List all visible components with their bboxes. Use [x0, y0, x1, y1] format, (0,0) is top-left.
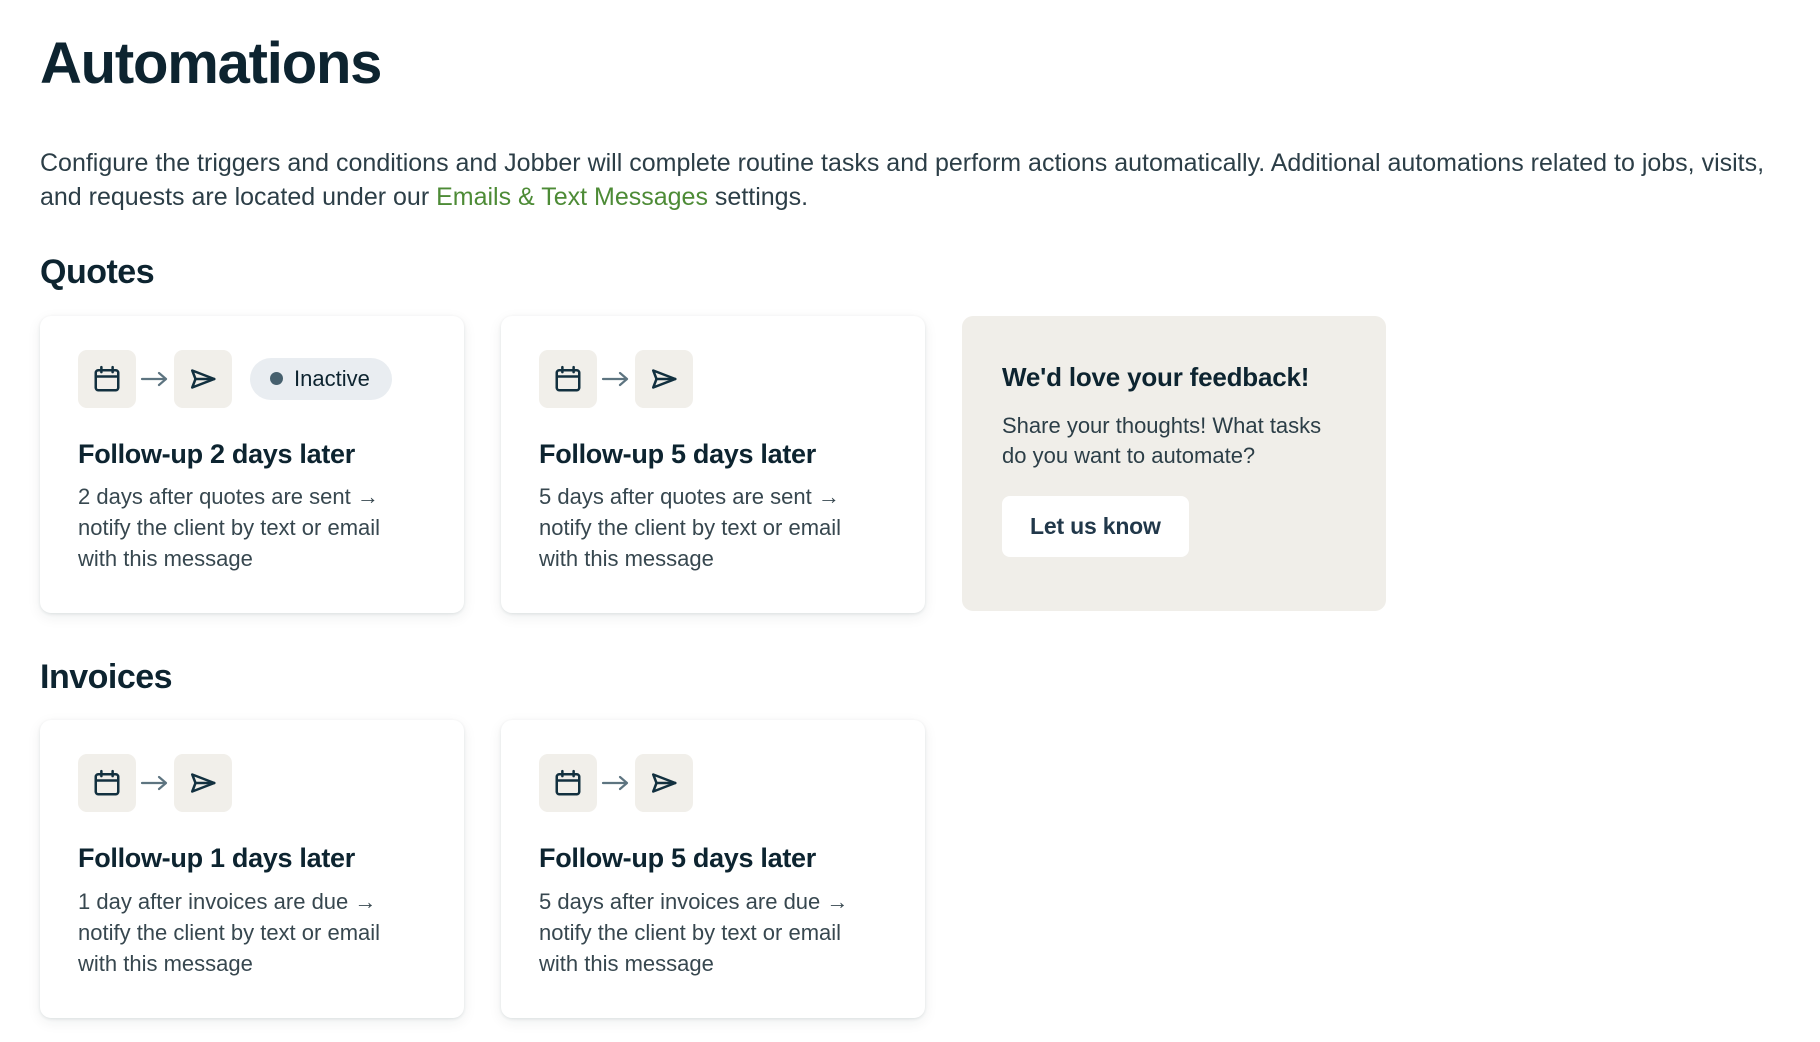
send-icon	[649, 364, 679, 394]
action-icon-tile	[635, 350, 693, 408]
status-badge-label: Inactive	[294, 368, 370, 390]
automation-card-quotes-2[interactable]: Follow-up 5 days later 5 days after quot…	[501, 316, 925, 613]
section-heading-invoices: Invoices	[40, 657, 1780, 698]
card-icon-flow: Inactive	[78, 350, 426, 408]
quotes-card-row: Inactive Follow-up 2 days later 2 days a…	[40, 316, 1780, 613]
card-description: 1 day after invoices are due → notify th…	[78, 886, 423, 980]
card-description: 2 days after quotes are sent → notify th…	[78, 481, 423, 575]
status-badge: Inactive	[250, 358, 392, 400]
page-description: Configure the triggers and conditions an…	[40, 146, 1780, 214]
card-title: Follow-up 1 days later	[78, 842, 426, 874]
action-icon-tile	[635, 754, 693, 812]
card-title: Follow-up 5 days later	[539, 438, 887, 470]
send-icon	[649, 768, 679, 798]
arrow-right-icon	[597, 774, 635, 792]
trigger-icon-tile	[539, 350, 597, 408]
invoices-card-row: Follow-up 1 days later 1 day after invoi…	[40, 720, 1780, 1017]
automation-card-quotes-1[interactable]: Inactive Follow-up 2 days later 2 days a…	[40, 316, 464, 613]
arrow-right-icon	[136, 370, 174, 388]
automation-card-invoices-1[interactable]: Follow-up 1 days later 1 day after invoi…	[40, 720, 464, 1017]
action-icon-tile	[174, 754, 232, 812]
card-description: 5 days after invoices are due → notify t…	[539, 886, 884, 980]
feedback-body: Share your thoughts! What tasks do you w…	[1002, 411, 1346, 472]
calendar-icon	[92, 364, 122, 394]
automation-card-invoices-2[interactable]: Follow-up 5 days later 5 days after invo…	[501, 720, 925, 1017]
status-dot-icon	[270, 372, 283, 385]
card-icon-flow	[78, 754, 426, 812]
section-heading-quotes: Quotes	[40, 252, 1780, 293]
trigger-icon-tile	[78, 350, 136, 408]
trigger-icon-tile	[78, 754, 136, 812]
arrow-right-icon	[597, 370, 635, 388]
calendar-icon	[553, 768, 583, 798]
page-description-text-before: Configure the triggers and conditions an…	[40, 149, 1764, 211]
trigger-icon-tile	[539, 754, 597, 812]
card-icon-flow	[539, 350, 887, 408]
card-icon-flow	[539, 754, 887, 812]
card-title: Follow-up 5 days later	[539, 842, 887, 874]
calendar-icon	[92, 768, 122, 798]
page-title: Automations	[40, 32, 1780, 96]
card-title: Follow-up 2 days later	[78, 438, 426, 470]
let-us-know-button[interactable]: Let us know	[1002, 496, 1189, 557]
send-icon	[188, 364, 218, 394]
arrow-right-icon	[136, 774, 174, 792]
feedback-card: We'd love your feedback! Share your thou…	[962, 316, 1386, 611]
feedback-title: We'd love your feedback!	[1002, 362, 1346, 393]
page-description-text-after: settings.	[708, 183, 808, 211]
card-description: 5 days after quotes are sent → notify th…	[539, 481, 884, 575]
emails-text-messages-link[interactable]: Emails & Text Messages	[436, 183, 708, 211]
send-icon	[188, 768, 218, 798]
action-icon-tile	[174, 350, 232, 408]
automations-page: Automations Configure the triggers and c…	[0, 0, 1820, 1042]
calendar-icon	[553, 364, 583, 394]
